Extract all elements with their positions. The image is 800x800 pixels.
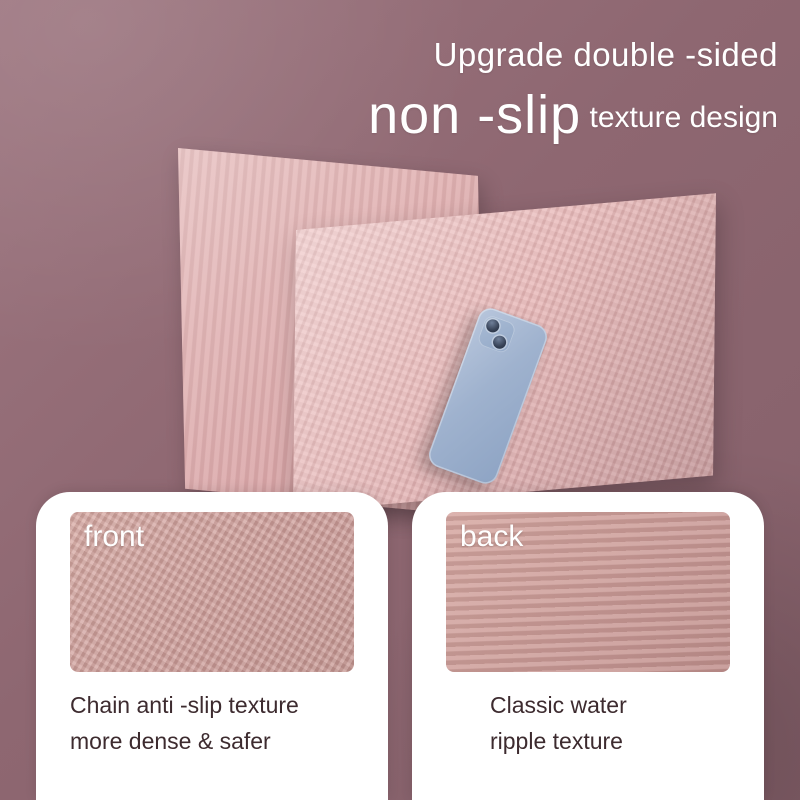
panel-back: back Classic water ripple texture (412, 492, 764, 800)
headline-line-1: Upgrade double -sided (434, 38, 778, 71)
headline-subtext: texture design (581, 101, 778, 134)
phone-camera-module (476, 314, 517, 355)
swatch-label-front: front (84, 520, 144, 554)
camera-lens-icon (491, 334, 508, 351)
panel-front: front Chain anti -slip texture more dens… (36, 492, 388, 800)
caption-back-line-1: Classic water (490, 688, 764, 724)
caption-front: Chain anti -slip texture more dense & sa… (70, 688, 360, 759)
headline-line-2: non -slip texture design (368, 88, 778, 142)
camera-lens-icon (484, 318, 501, 335)
panel-divider (388, 492, 412, 800)
caption-back: Classic water ripple texture (490, 688, 764, 759)
headline-emphasis: non -slip (368, 85, 581, 145)
promo-image-canvas: Upgrade double -sided non -slip texture … (0, 0, 800, 800)
caption-front-line-1: Chain anti -slip texture (70, 688, 360, 724)
caption-back-line-2: ripple texture (490, 724, 764, 760)
comparison-panels: front Chain anti -slip texture more dens… (36, 492, 764, 800)
swatch-label-back: back (460, 520, 523, 554)
caption-front-line-2: more dense & safer (70, 724, 360, 760)
